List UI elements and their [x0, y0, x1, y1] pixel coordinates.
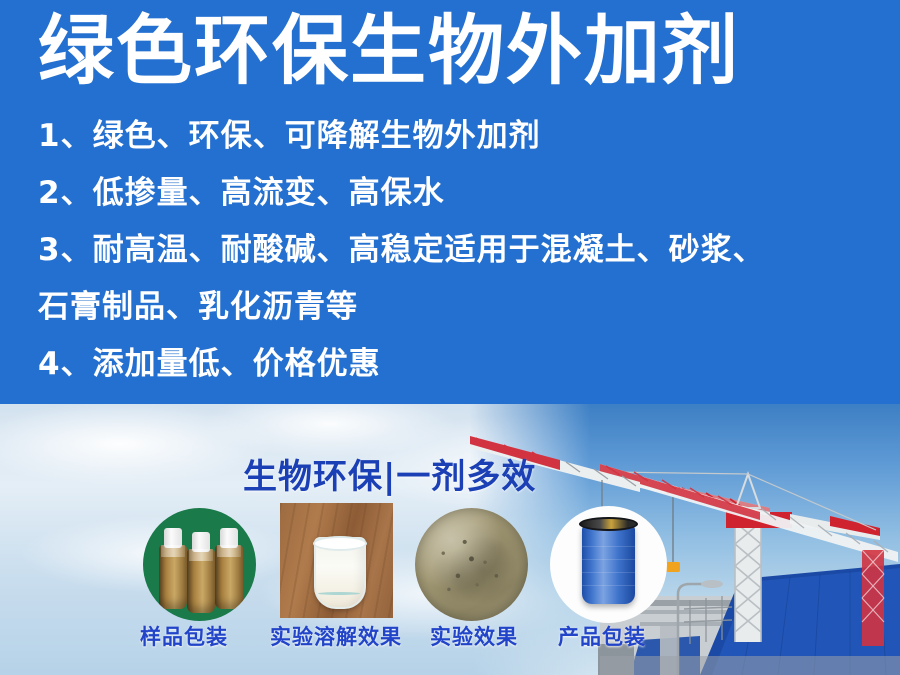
caption-dissolution-effect: 实验溶解效果 [270, 622, 402, 652]
sample-bottle-icon [187, 549, 215, 613]
sample-bottle-icon [215, 545, 243, 609]
sample-bottle-icon [159, 545, 187, 609]
slogan-text: 生物环保|一剂多效 [243, 458, 536, 496]
caption-experiment-effect: 实验效果 [430, 622, 518, 652]
thumbnail-caption-row: 样品包装 实验溶解效果 实验效果 产品包装 [0, 622, 900, 656]
feature-line-3: 3、耐高温、耐酸碱、高稳定适用于混凝土、砂浆、 [38, 222, 888, 279]
product-poster: 绿色环保生物外加剂 1、绿色、环保、可降解生物外加剂 2、低掺量、高流变、高保水… [0, 0, 900, 675]
feature-line-4: 4、添加量低、价格优惠 [38, 336, 888, 393]
blue-drum-icon [582, 524, 635, 604]
page-title: 绿色环保生物外加剂 [38, 8, 868, 94]
feature-line-2: 2、低掺量、高流变、高保水 [38, 165, 888, 222]
thumbnail-mortar-mix [415, 508, 528, 621]
feature-line-3-cont: 石膏制品、乳化沥青等 [38, 279, 888, 336]
blue-header-panel: 绿色环保生物外加剂 1、绿色、环保、可降解生物外加剂 2、低掺量、高流变、高保水… [0, 0, 900, 404]
thumbnail-sample-bottles [143, 508, 256, 621]
feature-list: 1、绿色、环保、可降解生物外加剂 2、低掺量、高流变、高保水 3、耐高温、耐酸碱… [38, 108, 888, 393]
thumbnail-blue-drum [550, 506, 667, 623]
feature-line-1: 1、绿色、环保、可降解生物外加剂 [38, 108, 888, 165]
mortar-grit-texture [415, 508, 528, 621]
beaker-icon [314, 537, 366, 609]
caption-sample-packaging: 样品包装 [140, 622, 228, 652]
caption-product-packaging: 产品包装 [558, 622, 646, 652]
thumbnail-beaker-dissolution [280, 503, 393, 618]
